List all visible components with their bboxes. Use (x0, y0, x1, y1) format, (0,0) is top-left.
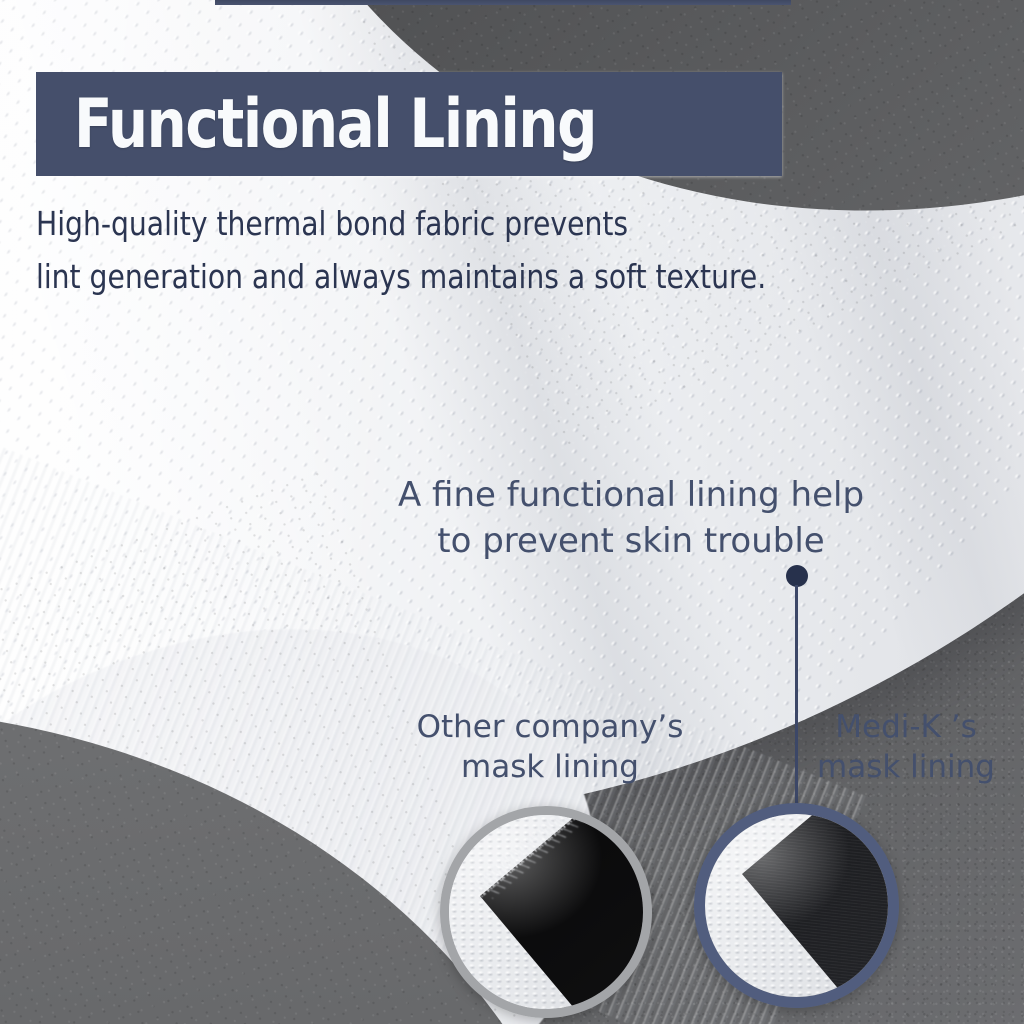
inset-photo-medik-lining (694, 803, 899, 1008)
page-title: Functional Lining (74, 85, 596, 164)
subtitle-line-2: lint generation and always maintains a s… (36, 250, 891, 303)
label-other-line-2: mask lining (390, 748, 710, 788)
label-medik-line-1: Medi-K ’s (786, 708, 1024, 748)
subtitle-line-1: High-quality thermal bond fabric prevent… (36, 197, 891, 250)
label-other-company-lining: Other company’s mask lining (390, 708, 710, 787)
feature-callout-text: A fine functional lining help to prevent… (358, 473, 904, 565)
label-medik-lining: Medi-K ’s mask lining (786, 708, 1024, 787)
inset-photo-other-company-lining (440, 806, 652, 1018)
label-medik-line-2: mask lining (786, 748, 1024, 788)
subtitle-text: High-quality thermal bond fabric prevent… (36, 197, 891, 304)
label-other-line-1: Other company’s (390, 708, 710, 748)
product-infographic-slide: Functional Lining High-quality thermal b… (0, 0, 1024, 1024)
previous-banner-edge-strip (215, 0, 791, 5)
title-banner: Functional Lining (36, 72, 782, 176)
callout-line-2: to prevent skin trouble (358, 519, 904, 565)
leader-dot-icon (786, 565, 808, 587)
callout-line-1: A fine functional lining help (358, 473, 904, 519)
